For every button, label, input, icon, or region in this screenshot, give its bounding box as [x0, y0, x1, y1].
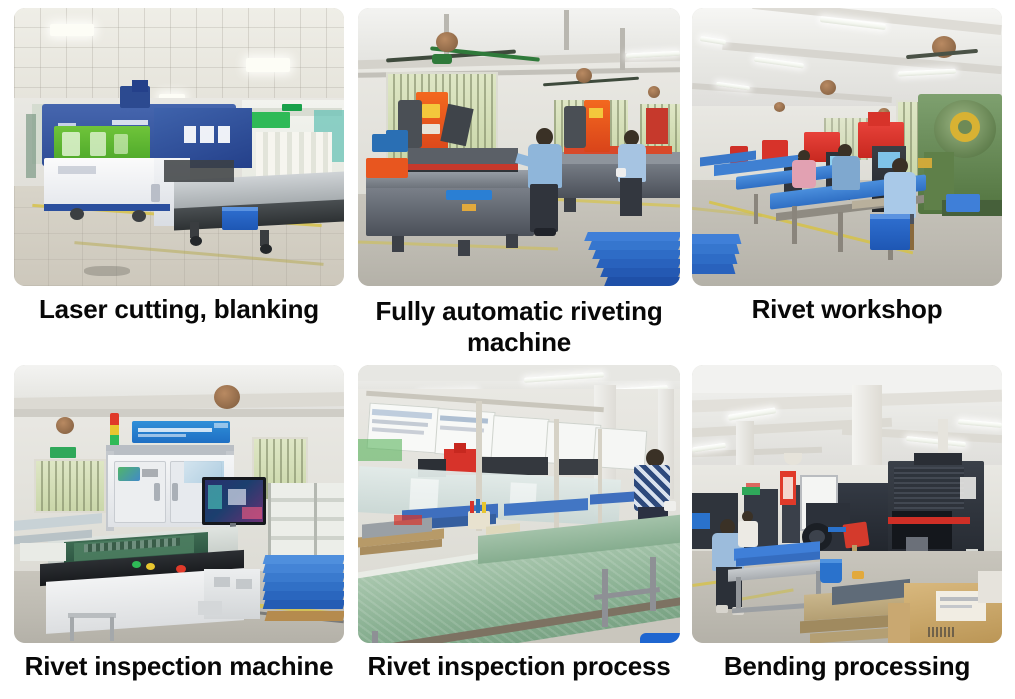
gallery-tile-bending-processing[interactable]: Bending processing	[692, 365, 1002, 699]
photo-rivet-workshop[interactable]	[692, 8, 1002, 286]
photo-laser-cutting[interactable]	[14, 8, 344, 286]
caption-rivet-inspection-machine: Rivet inspection machine	[14, 651, 344, 682]
gallery-tile-rivet-workshop[interactable]: Rivet workshop	[692, 8, 1002, 348]
caption-riveting-machine: Fully automatic riveting machine	[358, 296, 680, 358]
photo-rivet-inspection-process[interactable]	[358, 365, 680, 643]
caption-laser-cutting: Laser cutting, blanking	[14, 294, 344, 325]
photo-riveting-machine[interactable]	[358, 8, 680, 286]
caption-bending-processing: Bending processing	[692, 651, 1002, 682]
photo-rivet-inspection-machine[interactable]	[14, 365, 344, 643]
gallery-tile-rivet-inspection-process[interactable]: Rivet inspection process	[358, 365, 680, 699]
caption-rivet-inspection-process: Rivet inspection process	[358, 651, 680, 682]
caption-rivet-workshop: Rivet workshop	[692, 294, 1002, 325]
gallery-tile-rivet-inspection-machine[interactable]: Rivet inspection machine	[14, 365, 344, 699]
gallery-tile-riveting-machine[interactable]: Fully automatic riveting machine	[358, 8, 680, 348]
gallery-tile-laser-cutting[interactable]: Laser cutting, blanking	[14, 8, 344, 348]
photo-bending-processing[interactable]	[692, 365, 1002, 643]
process-gallery: Laser cutting, blanking	[0, 0, 1015, 699]
